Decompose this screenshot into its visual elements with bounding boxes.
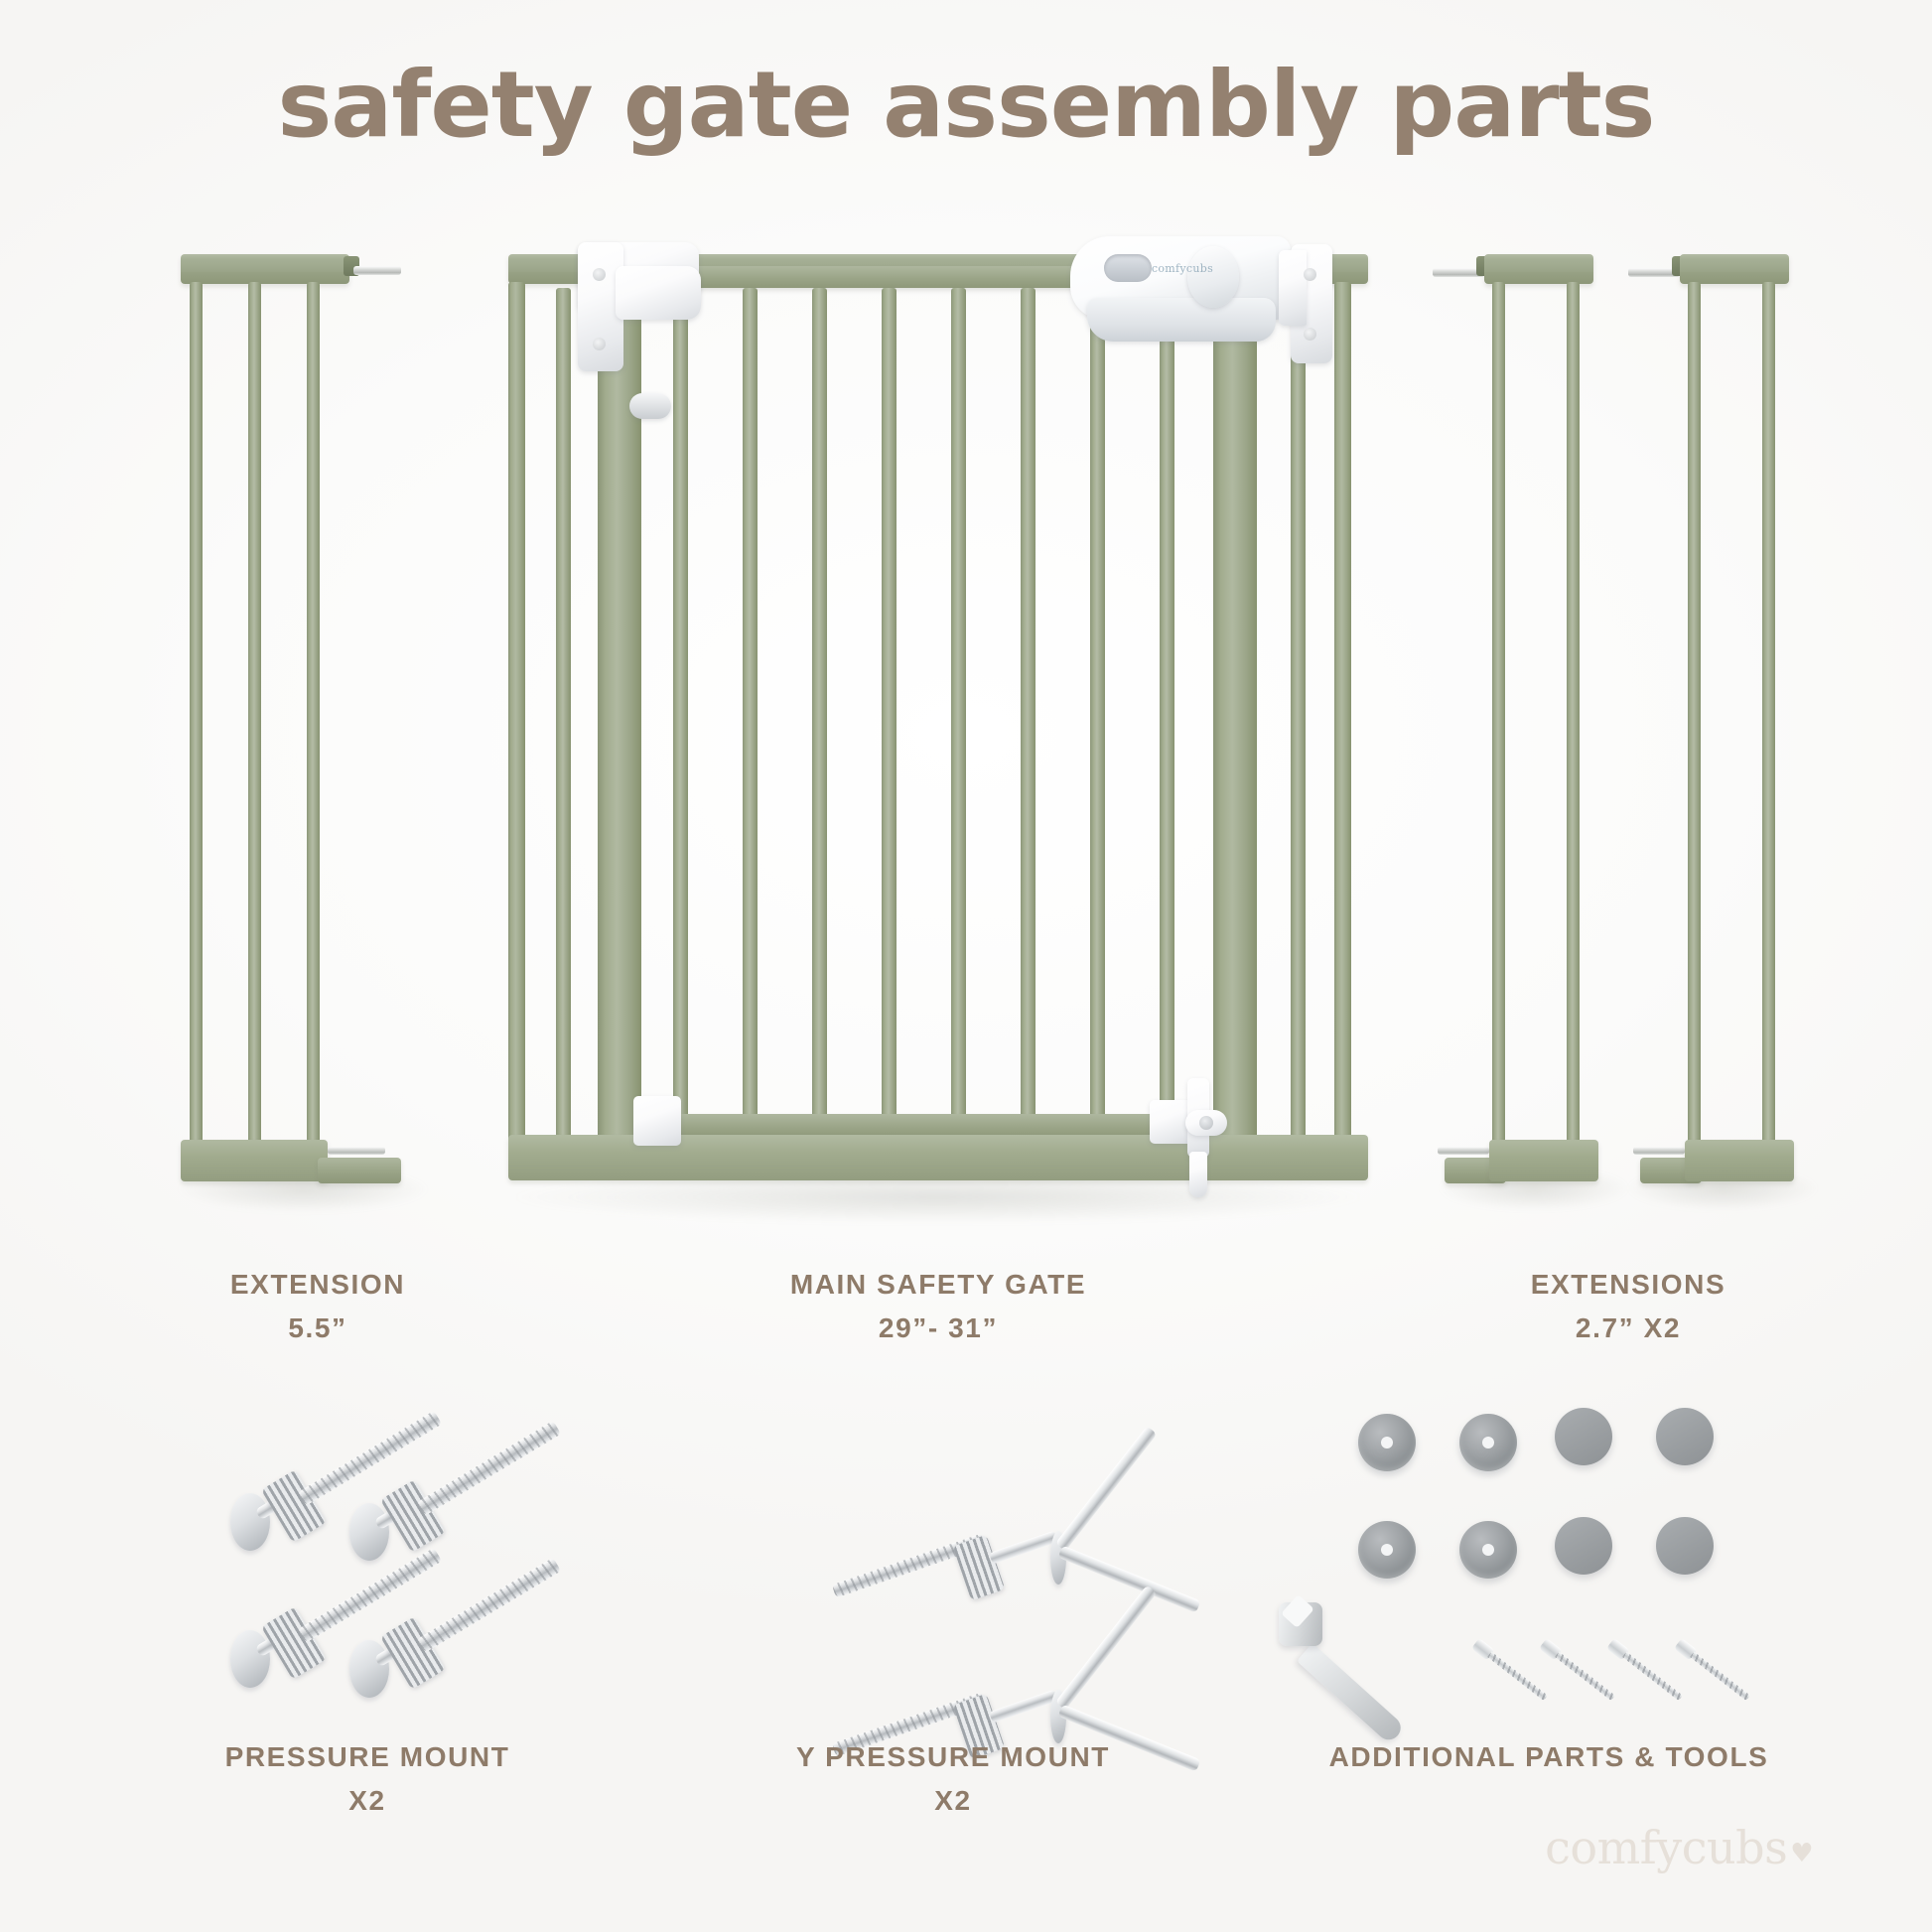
extension-top-rail	[181, 254, 349, 284]
caption-main-safety-gate: MAIN SAFETY GATE 29”- 31”	[650, 1263, 1226, 1350]
brand-logo-text: comfycubs	[1545, 1821, 1787, 1874]
alignment-pin-bottom	[328, 1147, 385, 1155]
alignment-pin-bottom	[1438, 1147, 1489, 1155]
extension-slide-tab	[318, 1158, 401, 1183]
extension-bottom-rail	[1489, 1140, 1598, 1181]
gate-bar	[673, 288, 688, 1152]
extension-bar	[248, 282, 261, 1146]
caption-extensions-2-7: EXTENSIONS 2.7” X2	[1380, 1263, 1876, 1350]
wall-cup	[1358, 1521, 1416, 1579]
lock-slide-switch[interactable]	[1104, 254, 1152, 282]
infographic-canvas: safety gate assembly parts EXTENSION 5.5…	[0, 0, 1932, 1932]
gate-bar	[743, 288, 758, 1152]
extension-bar	[1567, 282, 1580, 1146]
extension-top-rail	[1680, 254, 1789, 284]
gate-frame-post-right	[1334, 282, 1351, 1156]
gate-latch-post	[1213, 282, 1257, 1156]
wall-cup	[1459, 1414, 1517, 1471]
gate-frame-post-left	[508, 282, 525, 1156]
wall-pad	[1555, 1408, 1612, 1465]
gate-bar	[1291, 288, 1306, 1152]
caption-line-size: 29”- 31”	[650, 1307, 1226, 1350]
alignment-pin-top	[353, 266, 401, 275]
extension-bottom-rail	[1685, 1140, 1794, 1181]
gate-bar	[1090, 288, 1105, 1152]
extension-bottom-rail	[181, 1140, 328, 1181]
caption-y-pressure-mount: Y PRESSURE MOUNT X2	[695, 1735, 1211, 1823]
hinge-screw-icon	[593, 268, 606, 281]
caption-line-size: X2	[695, 1779, 1211, 1823]
extension-bar	[1492, 282, 1505, 1146]
caption-line-size: 5.5”	[60, 1307, 576, 1350]
caption-line-name: PRESSURE MOUNT	[225, 1741, 510, 1772]
wall-cup	[1459, 1521, 1517, 1579]
caption-line-name: ADDITIONAL PARTS & TOOLS	[1329, 1741, 1769, 1772]
wall-pad	[1555, 1517, 1612, 1575]
gate-hinge-bottom	[633, 1096, 681, 1146]
caption-line-name: EXTENSION	[230, 1269, 405, 1300]
wall-cup	[1358, 1414, 1416, 1471]
caption-additional-parts: ADDITIONAL PARTS & TOOLS	[1271, 1735, 1827, 1779]
extension-bar	[1688, 282, 1701, 1146]
hinge-pivot-icon	[629, 393, 671, 419]
latch-pivot-icon	[1199, 1116, 1213, 1130]
caption-line-size: X2	[109, 1779, 625, 1823]
lock-press-button[interactable]	[1187, 246, 1239, 308]
extension-bar	[307, 282, 320, 1146]
gate-bar	[812, 288, 827, 1152]
caption-line-size: 2.7” X2	[1380, 1307, 1876, 1350]
caption-line-name: Y PRESSURE MOUNT	[796, 1741, 1110, 1772]
gate-bar	[882, 288, 897, 1152]
gate-bar	[1160, 288, 1174, 1152]
caption-line-name: EXTENSIONS	[1531, 1269, 1725, 1300]
bracket-screw-icon	[1304, 268, 1316, 281]
lock-brand-label: comfycubs	[1148, 262, 1217, 275]
latch-bracket-inner	[1279, 250, 1307, 326]
bracket-screw-icon	[1304, 328, 1316, 341]
wall-pad	[1656, 1517, 1714, 1575]
gate-bar	[556, 288, 571, 1152]
heart-icon: ♥	[1790, 1839, 1813, 1868]
extension-top-rail	[1484, 254, 1593, 284]
extension-bar	[1762, 282, 1775, 1146]
gate-bar	[951, 288, 966, 1152]
caption-line-name: MAIN SAFETY GATE	[790, 1269, 1086, 1300]
brand-logo: comfycubs♥	[1545, 1821, 1813, 1874]
hinge-screw-icon	[593, 338, 606, 350]
gate-bar	[1021, 288, 1035, 1152]
caption-extension-5-5: EXTENSION 5.5”	[60, 1263, 576, 1350]
extension-bar	[190, 282, 203, 1146]
page-title: safety gate assembly parts	[0, 52, 1932, 158]
caption-pressure-mount: PRESSURE MOUNT X2	[109, 1735, 625, 1823]
alignment-pin-bottom	[1633, 1147, 1685, 1155]
wall-pad	[1656, 1408, 1714, 1465]
